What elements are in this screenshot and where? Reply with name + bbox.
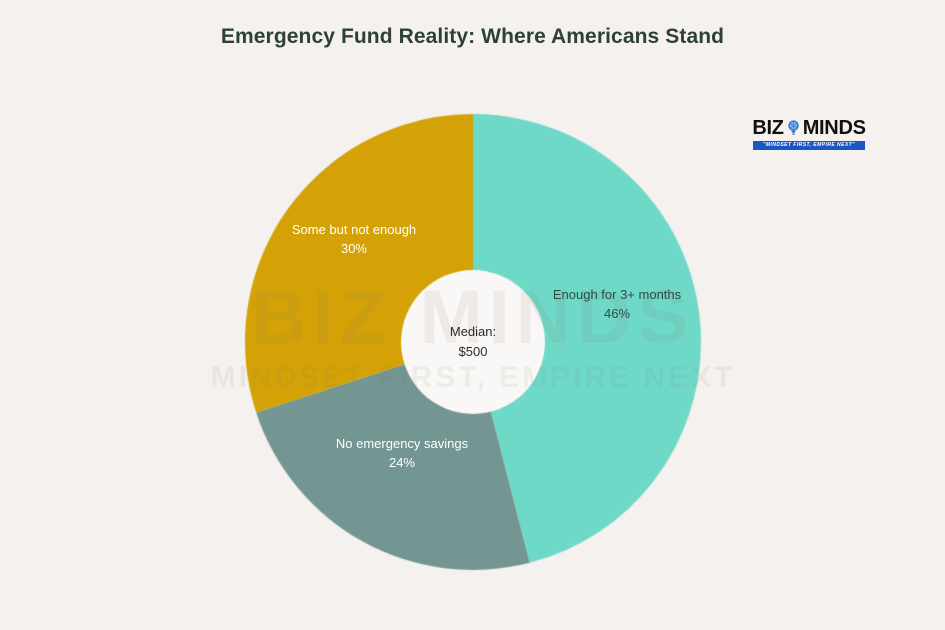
median-value: $500: [450, 342, 496, 362]
brand-wordmark: BIZ MINDS: [753, 118, 865, 138]
pie-chart-canvas: [0, 0, 945, 630]
donut-center-annotation: Median: $500: [450, 322, 496, 362]
brand-name-part2: MINDS: [803, 118, 866, 138]
brand-logo: BIZ MINDS "MINDSET FIRST, EMPIRE NEXT": [753, 118, 865, 150]
brand-name-part1: BIZ: [752, 118, 783, 138]
median-label: Median:: [450, 324, 496, 339]
brand-tagline: "MINDSET FIRST, EMPIRE NEXT": [753, 141, 865, 150]
lightbulb-brain-icon: [785, 119, 802, 138]
page-title: Emergency Fund Reality: Where Americans …: [0, 25, 945, 49]
